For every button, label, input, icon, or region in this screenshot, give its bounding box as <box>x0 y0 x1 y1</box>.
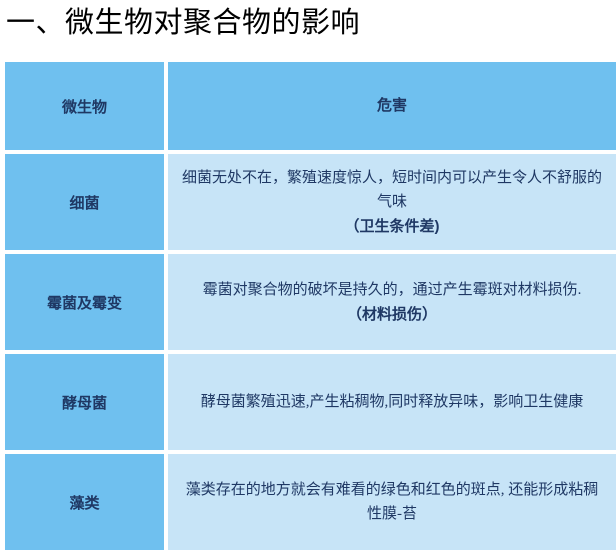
row-desc-note: （材料损伤） <box>182 303 602 327</box>
microbe-harm-table: 微生物 危害 细菌 细菌无处不在，繁殖速度惊人，短时间内可以产生令人不舒服的气味… <box>5 62 616 550</box>
page-title: 一、微生物对聚合物的影响 <box>6 2 360 44</box>
row-desc-note: （卫生条件差) <box>182 215 602 239</box>
row-desc-yeast: 酵母菌繁殖迅速,产生粘稠物,同时释放异味，影响卫生健康 <box>168 354 616 450</box>
table-row: 藻类 藻类存在的地方就会有难看的绿色和红色的斑点, 还能形成粘稠性膜-苔 <box>5 454 616 550</box>
slide-canvas: 一、微生物对聚合物的影响 微生物 危害 细菌 细菌无处不在，繁殖速度惊人，短时间… <box>0 0 616 560</box>
row-label-bacteria: 细菌 <box>5 154 164 250</box>
row-label-mold: 霉菌及霉变 <box>5 254 164 350</box>
row-desc-main: 霉菌对聚合物的破坏是持久的，通过产生霉斑对材料损伤. <box>182 278 602 302</box>
row-desc-bacteria: 细菌无处不在，繁殖速度惊人，短时间内可以产生令人不舒服的气味 （卫生条件差) <box>168 154 616 250</box>
column-header-microbe: 微生物 <box>5 62 164 150</box>
row-label-algae: 藻类 <box>5 454 164 550</box>
column-header-harm: 危害 <box>168 62 616 150</box>
row-desc-mold: 霉菌对聚合物的破坏是持久的，通过产生霉斑对材料损伤. （材料损伤） <box>168 254 616 350</box>
row-desc-main: 酵母菌繁殖迅速,产生粘稠物,同时释放异味，影响卫生健康 <box>182 390 602 414</box>
table-row: 酵母菌 酵母菌繁殖迅速,产生粘稠物,同时释放异味，影响卫生健康 <box>5 354 616 450</box>
row-desc-main: 藻类存在的地方就会有难看的绿色和红色的斑点, 还能形成粘稠性膜-苔 <box>182 478 602 526</box>
table-row: 霉菌及霉变 霉菌对聚合物的破坏是持久的，通过产生霉斑对材料损伤. （材料损伤） <box>5 254 616 350</box>
row-label-yeast: 酵母菌 <box>5 354 164 450</box>
row-desc-main: 细菌无处不在，繁殖速度惊人，短时间内可以产生令人不舒服的气味 <box>182 166 602 214</box>
table-header-row: 微生物 危害 <box>5 62 616 150</box>
row-desc-algae: 藻类存在的地方就会有难看的绿色和红色的斑点, 还能形成粘稠性膜-苔 <box>168 454 616 550</box>
table-row: 细菌 细菌无处不在，繁殖速度惊人，短时间内可以产生令人不舒服的气味 （卫生条件差… <box>5 154 616 250</box>
